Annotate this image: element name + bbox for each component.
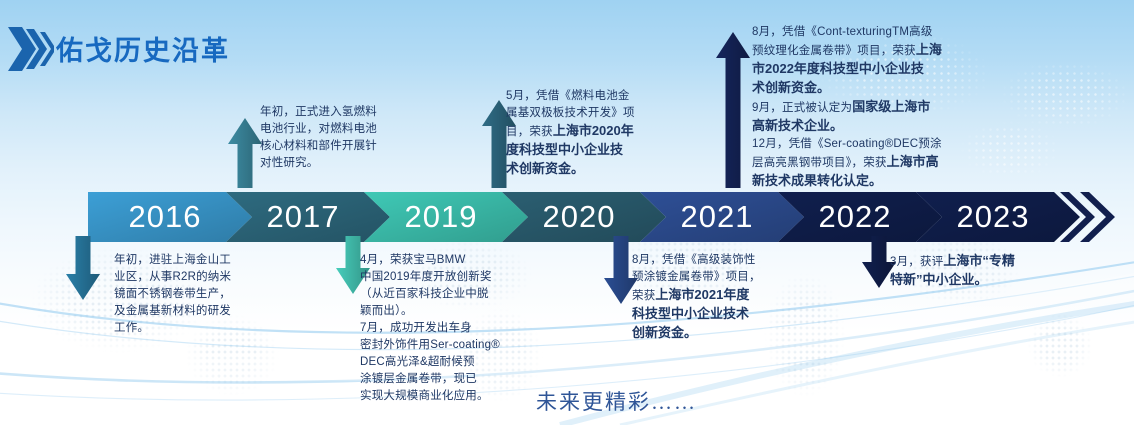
- entry-text-run: 层高亮黑钢带项目》，荣获: [752, 157, 887, 169]
- connector-arrow-2016: [66, 236, 100, 300]
- entry-text-run: DEC高光泽&超耐候预: [360, 356, 475, 368]
- future-tagline: 未来更精彩……: [536, 386, 697, 416]
- entry-text-emphasis: 国家级上海市: [852, 99, 930, 114]
- entry-text-run: 颖而出）。: [360, 305, 413, 317]
- entry-line: 对性研究。: [260, 155, 377, 172]
- entry-line: 4月，荣获宝马BMW: [360, 252, 500, 269]
- entry-line: 年初，进驻上海金山工: [114, 252, 231, 269]
- entry-text-run: 属基双极板技术开发》项: [506, 107, 635, 119]
- entry-text-run: 业区，从事R2R的纳米: [114, 271, 231, 283]
- entry-line: 核心材料和部件开展针: [260, 138, 377, 155]
- entry-text-emphasis: 上海市高: [887, 154, 939, 169]
- entry-text-y2023: 3月，获评上海市“专精特新”中小企业。: [890, 252, 1015, 290]
- entry-text-run: 年初，正式进入氢燃料: [260, 106, 377, 118]
- infographic-stage: 佑戈历史沿革 2016201720192020202120222023 年初，进…: [0, 0, 1134, 425]
- entry-line: 8月，凭借《Cont-texturingTM高级: [752, 24, 942, 41]
- entry-line: 9月，正式被认定为国家级上海市: [752, 98, 942, 117]
- connector-arrow-2017: [228, 118, 262, 188]
- entry-line: 中国2019年度开放创新奖: [360, 269, 500, 286]
- entry-line: 荣获上海市2021年度: [632, 286, 761, 305]
- entry-text-run: 9月，正式被认定为: [752, 102, 852, 114]
- entry-text-run: 5月，凭借《燃料电池金: [506, 90, 630, 102]
- entry-text-emphasis: 度科技型中小企业技: [506, 142, 623, 157]
- entry-line: 年初，正式进入氢燃料: [260, 104, 377, 121]
- entry-text-emphasis: 上海市2021年度: [655, 287, 749, 302]
- entry-text-run: （从近百家科技企业中脱: [360, 288, 489, 300]
- entry-text-emphasis: 术创新资金。: [506, 161, 584, 176]
- entry-text-run: 8月，凭借《Cont-texturingTM高级: [752, 26, 933, 38]
- entry-text-y2017: 年初，正式进入氢燃料电池行业，对燃料电池核心材料和部件开展针对性研究。: [260, 104, 377, 172]
- entry-text-emphasis: 上海市2020年: [553, 123, 634, 138]
- timeline-chevron-bar: [0, 186, 1134, 248]
- entry-text-emphasis: 市2022年度科技型中小企业技: [752, 61, 924, 76]
- entry-text-run: 12月，凭借《Ser-coating®DEC预涂: [752, 138, 942, 150]
- entry-line: 12月，凭借《Ser-coating®DEC预涂: [752, 136, 942, 153]
- entry-line: 5月，凭借《燃料电池金: [506, 88, 635, 105]
- entry-text-run: 密封外饰件用Ser-coating®: [360, 339, 500, 351]
- logo-chevron-icon: [8, 25, 54, 73]
- entry-text-y2016: 年初，进驻上海金山工业区，从事R2R的纳米镜面不锈钢卷带生产，及金属基新材料的研…: [114, 252, 231, 337]
- entry-text-run: 预涂镀金属卷带》项目，: [632, 271, 761, 283]
- connector-arrow-2022: [716, 32, 750, 188]
- entry-line: 度科技型中小企业技: [506, 141, 635, 160]
- entry-text-emphasis: 新技术成果转化认定。: [752, 173, 882, 188]
- entry-line: 及金属基新材料的研发: [114, 303, 231, 320]
- entry-text-emphasis: 上海: [916, 42, 942, 57]
- entry-text-y2019: 4月，荣获宝马BMW中国2019年度开放创新奖（从近百家科技企业中脱颖而出）。7…: [360, 252, 500, 405]
- entry-line: 术创新资金。: [506, 160, 635, 179]
- entry-line: 3月，获评上海市“专精: [890, 252, 1015, 271]
- entry-text-run: 镜面不锈钢卷带生产，: [114, 288, 231, 300]
- entry-text-run: 4月，荣获宝马BMW: [360, 254, 466, 266]
- entry-text-run: 目，荣获: [506, 126, 553, 138]
- entry-line: 预涂镀金属卷带》项目，: [632, 269, 761, 286]
- entry-text-run: 年初，进驻上海金山工: [114, 254, 231, 266]
- entry-text-run: 8月，凭借《高级装饰性: [632, 254, 756, 266]
- entry-line: 属基双极板技术开发》项: [506, 105, 635, 122]
- entry-line: 业区，从事R2R的纳米: [114, 269, 231, 286]
- entry-line: 科技型中小企业技术: [632, 305, 761, 324]
- entry-text-run: 工作。: [114, 322, 149, 334]
- entry-line: 颖而出）。: [360, 303, 500, 320]
- entry-line: 实现大规模商业化应用。: [360, 388, 500, 405]
- entry-text-y2021: 8月，凭借《高级装饰性预涂镀金属卷带》项目，荣获上海市2021年度科技型中小企业…: [632, 252, 761, 343]
- entry-line: 预纹理化金属卷带》项目，荣获上海: [752, 41, 942, 60]
- entry-line: （从近百家科技企业中脱: [360, 286, 500, 303]
- entry-line: 特新”中小企业。: [890, 271, 1015, 290]
- entry-text-run: 实现大规模商业化应用。: [360, 390, 489, 402]
- entry-text-emphasis: 科技型中小企业技术: [632, 306, 749, 321]
- entry-line: 高新技术企业。: [752, 117, 942, 136]
- entry-line: 镜面不锈钢卷带生产，: [114, 286, 231, 303]
- entry-line: 层高亮黑钢带项目》，荣获上海市高: [752, 153, 942, 172]
- entry-text-run: 涂镀层金属卷带，现已: [360, 373, 477, 385]
- entry-line: 工作。: [114, 320, 231, 337]
- entry-text-run: 对性研究。: [260, 157, 319, 169]
- entry-text-run: 及金属基新材料的研发: [114, 305, 231, 317]
- entry-text-emphasis: 术创新资金。: [752, 80, 830, 95]
- entry-line: 电池行业，对燃料电池: [260, 121, 377, 138]
- entry-line: 新技术成果转化认定。: [752, 172, 942, 191]
- entry-text-emphasis: 特新”中小企业。: [890, 272, 988, 287]
- entry-text-emphasis: 上海市“专精: [943, 253, 1015, 268]
- entry-text-run: 荣获: [632, 290, 655, 302]
- page-title: 佑戈历史沿革: [56, 29, 230, 68]
- entry-text-run: 3月，获评: [890, 256, 943, 268]
- entry-text-y2020: 5月，凭借《燃料电池金属基双极板技术开发》项目，荣获上海市2020年度科技型中小…: [506, 88, 635, 179]
- entry-line: 7月，成功开发出车身: [360, 320, 500, 337]
- entry-line: 涂镀层金属卷带，现已: [360, 371, 500, 388]
- entry-line: 创新资金。: [632, 324, 761, 343]
- entry-text-run: 7月，成功开发出车身: [360, 322, 472, 334]
- timeline-end-chevron-2: [1080, 192, 1115, 242]
- entry-line: DEC高光泽&超耐候预: [360, 354, 500, 371]
- entry-text-run: 电池行业，对燃料电池: [260, 123, 377, 135]
- entry-line: 市2022年度科技型中小企业技: [752, 60, 942, 79]
- entry-text-run: 核心材料和部件开展针: [260, 140, 377, 152]
- entry-text-run: 中国2019年度开放创新奖: [360, 271, 492, 283]
- entry-text-emphasis: 创新资金。: [632, 325, 697, 340]
- entry-line: 密封外饰件用Ser-coating®: [360, 337, 500, 354]
- timeline-segment-2016[interactable]: [88, 192, 252, 242]
- entry-text-y2022: 8月，凭借《Cont-texturingTM高级预纹理化金属卷带》项目，荣获上海…: [752, 24, 942, 191]
- entry-line: 术创新资金。: [752, 79, 942, 98]
- entry-text-run: 预纹理化金属卷带》项目，荣获: [752, 45, 916, 57]
- entry-line: 8月，凭借《高级装饰性: [632, 252, 761, 269]
- entry-line: 目，荣获上海市2020年: [506, 122, 635, 141]
- entry-text-emphasis: 高新技术企业。: [752, 118, 843, 133]
